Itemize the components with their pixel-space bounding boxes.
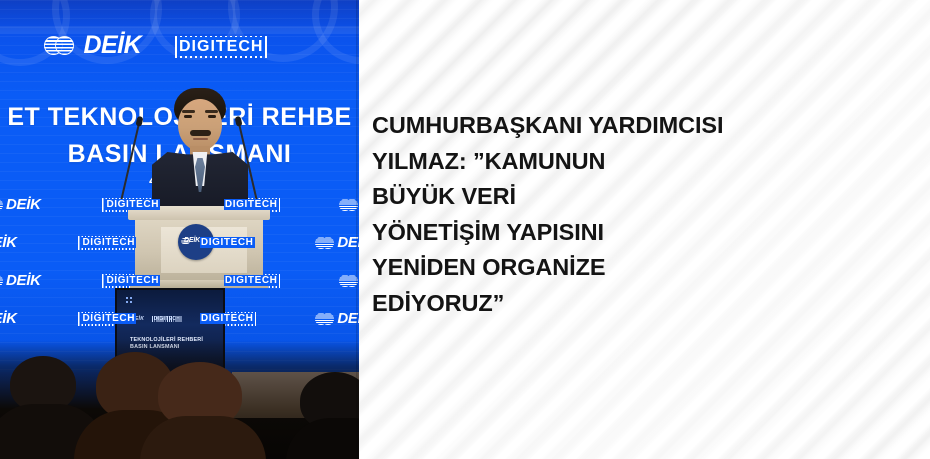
digitech-wordmark: DIGITECH	[224, 199, 279, 210]
headline-line-2: YILMAZ: ”KAMUNUN	[372, 144, 902, 180]
headline-line-6: EDİYORUZ”	[372, 286, 902, 322]
headline-line-5: YENİDEN ORGANİZE	[372, 250, 902, 286]
digitech-wordmark: DIGITECH	[105, 275, 160, 286]
speaker-mouth	[193, 138, 208, 140]
screen-logos: DEİK DIGITECH	[131, 316, 182, 322]
deik-globe-icon	[44, 36, 74, 55]
deik-wordmark: DEİK	[6, 273, 41, 288]
deik-wordmark: DEİK	[6, 197, 41, 212]
digitech-wordmark: DIGITECH	[105, 199, 160, 210]
deik-globe-icon	[315, 313, 334, 325]
speaker-figure	[150, 88, 250, 210]
deik-globe-icon	[315, 237, 334, 249]
digitech-wordmark: DIGITECH	[177, 37, 265, 56]
screen-digitech-logo: DIGITECH	[152, 316, 182, 322]
photo-edge	[356, 0, 359, 459]
digitech-wordmark: DIGITECH	[200, 313, 255, 324]
deik-wordmark: DEİK	[0, 311, 17, 326]
speaker-eye	[208, 115, 216, 118]
deik-globe-icon	[0, 275, 3, 287]
deik-logo: DEİK	[44, 33, 141, 58]
digitech-wordmark: DIGITECH	[224, 275, 279, 286]
podium-emblem-label: DEİK	[184, 237, 200, 244]
deik-wordmark: DEİK	[0, 235, 17, 250]
backdrop-top-logos: DEİK DIGITECH	[0, 33, 359, 67]
deik-wordmark: DEİK	[83, 33, 141, 58]
speaker-face	[178, 99, 222, 151]
digitech-wordmark: DIGITECH	[81, 237, 136, 248]
speaker-eyebrow	[182, 110, 195, 113]
digitech-wordmark: DIGITECH	[81, 313, 136, 324]
screen-dots-icon	[125, 296, 133, 304]
digitech-logo: DIGITECH	[175, 36, 267, 58]
article-card: DEİK DIGITECH ET TEKNOLOJİLERİ REHBE BAS…	[0, 0, 930, 459]
article-headline[interactable]: CUMHURBAŞKANI YARDIMCISI YILMAZ: ”KAMUNU…	[372, 108, 902, 321]
headline-line-4: YÖNETİŞİM YAPISINI	[372, 215, 902, 251]
headline-line-3: BÜYÜK VERİ	[372, 179, 902, 215]
digitech-wordmark: DIGITECH	[200, 237, 255, 248]
speaker-eye	[184, 115, 192, 118]
speaker-mustache	[190, 130, 211, 136]
speaker-eyebrow	[205, 110, 218, 113]
deik-globe-icon	[0, 199, 3, 211]
article-photo[interactable]: DEİK DIGITECH ET TEKNOLOJİLERİ REHBE BAS…	[0, 0, 359, 459]
headline-line-1: CUMHURBAŞKANI YARDIMCISI	[372, 108, 902, 144]
